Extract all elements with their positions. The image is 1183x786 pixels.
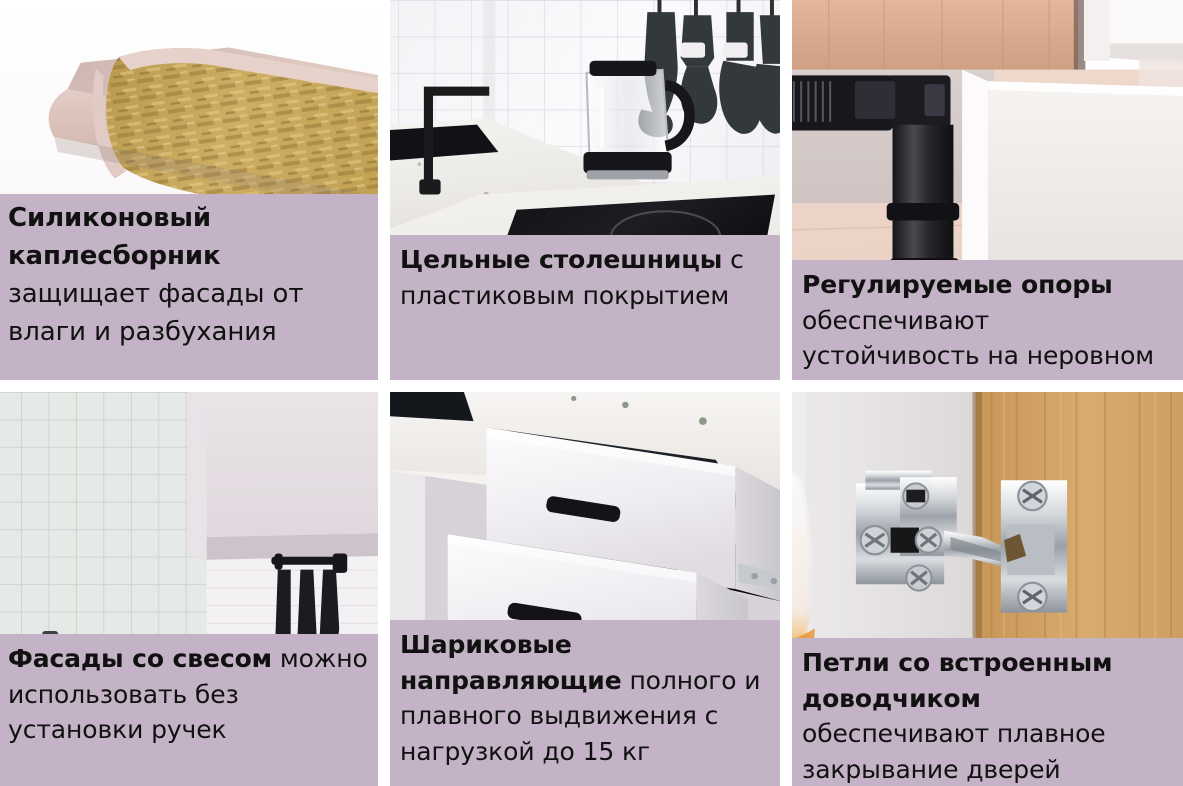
feature-description: обеспечивают плавное закрывание дверей xyxy=(802,719,1106,784)
features-grid: Силиконовый каплесборник защищает фасады… xyxy=(0,0,1183,786)
feature-card-adjustable-legs: Регулируемые опоры обеспечивают устойчив… xyxy=(792,0,1183,380)
feature-title: Шариковые направляющие xyxy=(400,630,622,695)
feature-card-drip-catcher: Силиконовый каплесборник защищает фасады… xyxy=(0,0,378,380)
feature-title: Цельные столешницы xyxy=(400,245,722,274)
feature-card-ball-bearing-slides: Шариковые направляющие полного и плавног… xyxy=(390,392,780,786)
feature-caption: Фасады со свесом можно использовать без … xyxy=(0,634,378,786)
feature-caption: Регулируемые опоры обеспечивают устойчив… xyxy=(792,260,1183,380)
feature-card-solid-countertops: Цельные столешницы с пластиковым покрыти… xyxy=(390,0,780,380)
feature-description: обеспечивают устойчивость на неровном по… xyxy=(802,306,1154,381)
feature-card-soft-close-hinges: Петли со встроенным доводчиком обеспечив… xyxy=(792,392,1183,786)
feature-title: Регулируемые опоры xyxy=(802,270,1113,299)
feature-caption: Цельные столешницы с пластиковым покрыти… xyxy=(390,235,780,380)
feature-description: защищает фасады от влаги и разбухания xyxy=(8,279,303,347)
feature-title: Фасады со свесом xyxy=(8,644,272,673)
feature-caption: Петли со встроенным доводчиком обеспечив… xyxy=(792,638,1183,786)
feature-caption: Шариковые направляющие полного и плавног… xyxy=(390,620,780,786)
feature-title: Петли со встроенным доводчиком xyxy=(802,648,1112,713)
feature-card-overhang-fronts: Фасады со свесом можно использовать без … xyxy=(0,392,378,786)
feature-caption: Силиконовый каплесборник защищает фасады… xyxy=(0,194,378,380)
feature-title: Силиконовый каплесборник xyxy=(8,203,221,271)
